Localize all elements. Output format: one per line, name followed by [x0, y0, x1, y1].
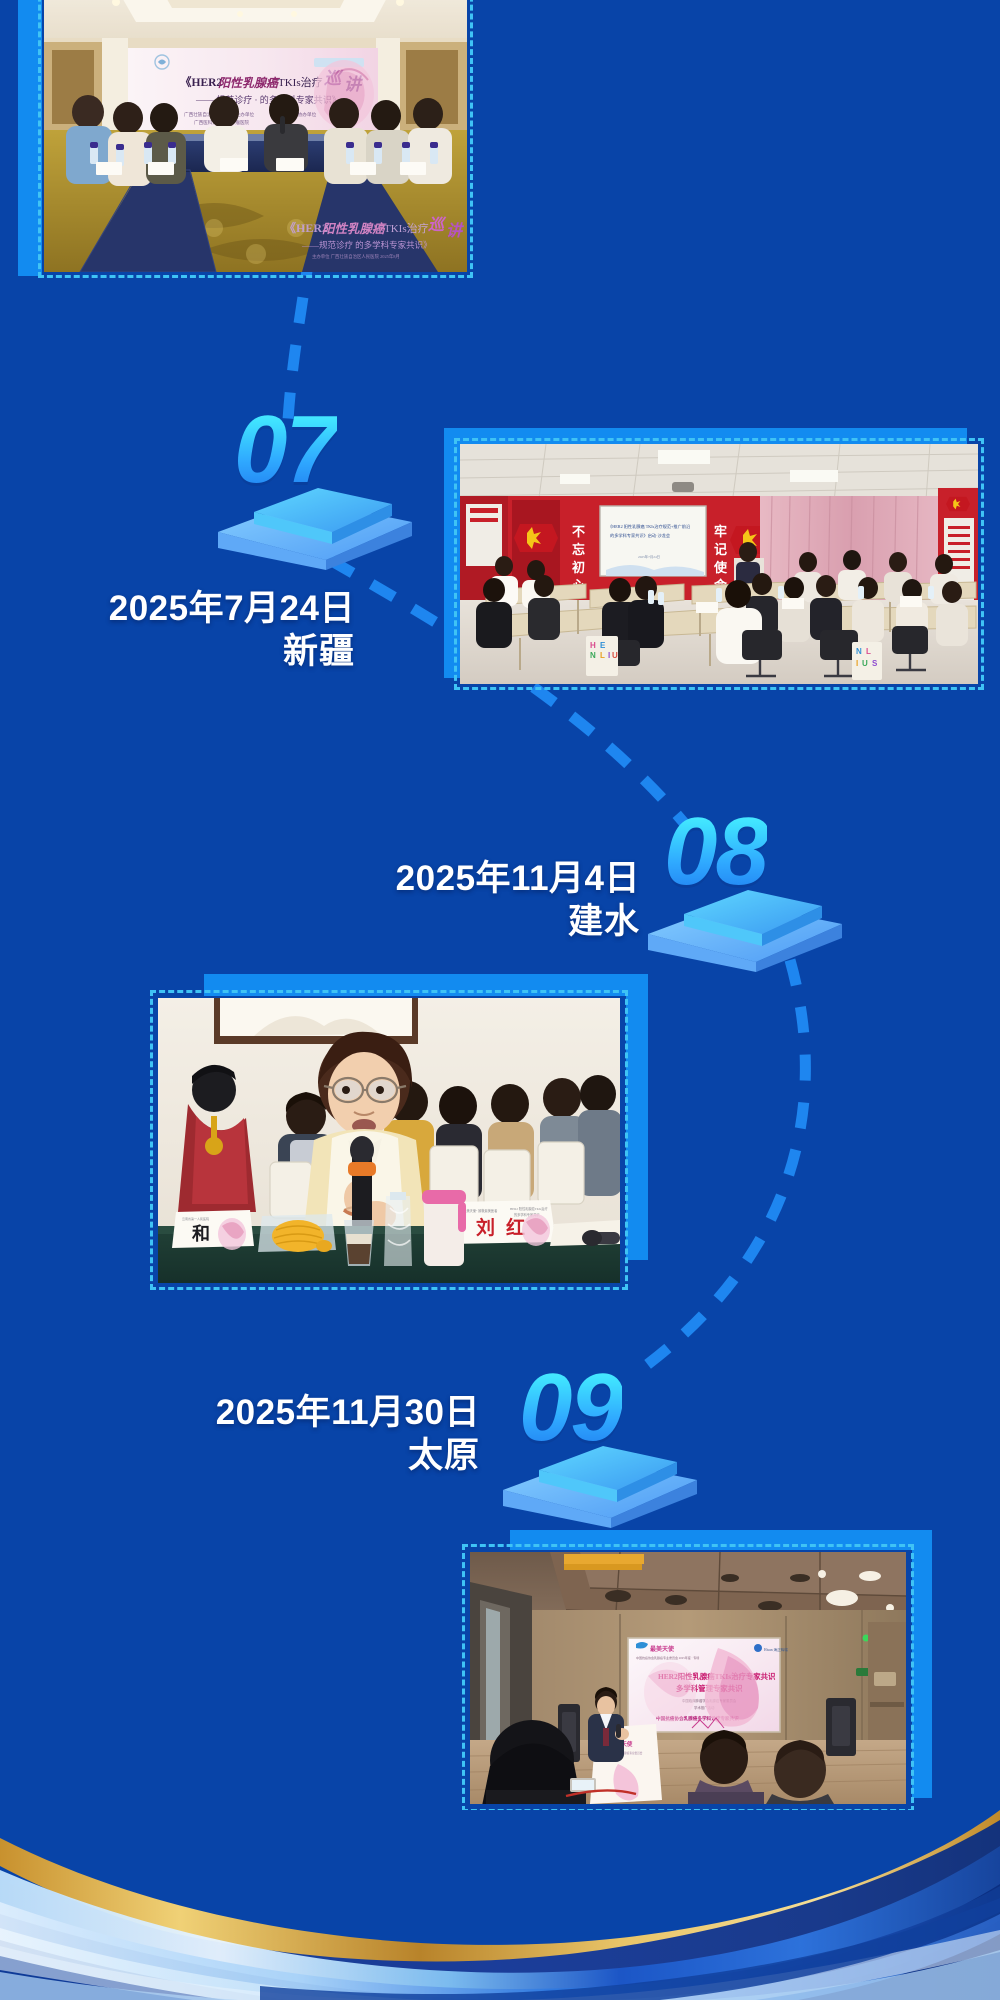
svg-text:H: H	[590, 641, 596, 650]
svg-text:刘: 刘	[476, 1216, 495, 1239]
photo-frame-07: 不忘 初心 《HER2 阳性乳腺癌 TKIs治疗规范+推广前沿 的多学科专家共识…	[444, 420, 984, 692]
jianshui-meeting-photo[interactable]: 和 云南省第一人民医院 刘 红 "最美天使" 致敬最美医者 HER2 阳性乳腺癌…	[158, 998, 620, 1283]
svg-text:阳性乳腺癌: 阳性乳腺癌	[322, 222, 387, 236]
svg-text:记: 记	[714, 542, 727, 557]
svg-text:TKIs治疗: TKIs治疗	[384, 221, 429, 235]
svg-text:N: N	[856, 647, 862, 656]
milestone-label-07: 2025年7月24日 新疆	[0, 588, 355, 673]
svg-text:S: S	[872, 659, 878, 668]
frame-accent-band-right	[912, 1530, 932, 1798]
svg-text:L: L	[866, 647, 871, 656]
bottom-decorative-wave	[0, 1810, 1000, 2000]
svg-text:I: I	[856, 659, 858, 668]
svg-text:2025年7月24日: 2025年7月24日	[638, 554, 660, 559]
top-photo-frame: 《HER2 阳性乳腺癌 TKIs治疗 巡 讲 —— 规范诊疗 · 的多学科专家共…	[18, 0, 473, 300]
xinjiang-meeting-photo[interactable]: 不忘 初心 《HER2 阳性乳腺癌 TKIs治疗规范+推广前沿 的多学科专家共识…	[460, 444, 978, 684]
milestone-marker-08[interactable]: 08	[640, 812, 850, 972]
svg-text:《HER2 阳性乳腺癌 TKIs治疗规范+推广前沿: 《HER2 阳性乳腺癌 TKIs治疗规范+推广前沿	[608, 523, 690, 530]
svg-text:和: 和	[192, 1224, 210, 1244]
poster-canvas: 《HER2 阳性乳腺癌 TKIs治疗 巡 讲 —— 规范诊疗 · 的多学科专家共…	[0, 0, 1000, 2000]
milestone-city-07: 新疆	[0, 631, 355, 674]
milestone-marker-09[interactable]: 09	[495, 1368, 705, 1528]
taiyuan-meeting-photo[interactable]: 最美天使 中国抗癌协会乳腺癌专业委员会 2025年度 · 专场 Hisun 海正…	[470, 1552, 906, 1804]
milestone-date-08: 2025年11月4日	[260, 858, 640, 901]
svg-text:最美天使: 最美天使	[650, 1645, 675, 1653]
svg-text:"最美天使" 致敬最美医者: "最美天使" 致敬最美医者	[462, 1208, 498, 1213]
top-conference-photo[interactable]: 《HER2 阳性乳腺癌 TKIs治疗 巡 讲 —— 规范诊疗 · 的多学科专家共…	[44, 0, 467, 272]
milestone-city-09: 太原	[100, 1435, 480, 1478]
svg-text:初: 初	[572, 560, 585, 575]
photo-frame-09: 最美天使 中国抗癌协会乳腺癌专业委员会 2025年度 · 专场 Hisun 海正…	[462, 1522, 932, 1822]
svg-text:云南省第一人民医院: 云南省第一人民医院	[182, 1216, 209, 1221]
svg-text:I: I	[608, 651, 610, 660]
svg-text:主办单位 广西壮族自治区人民医院 2025年8月: 主办单位 广西壮族自治区人民医院 2025年8月	[312, 253, 400, 260]
milestone-city-08: 建水	[260, 901, 640, 944]
svg-text:阳性乳腺癌: 阳性乳腺癌	[218, 76, 281, 90]
svg-text:不: 不	[572, 524, 585, 539]
milestone-number-07: 07	[234, 402, 337, 498]
milestone-number-09: 09	[519, 1360, 622, 1456]
svg-text:E: E	[600, 641, 606, 650]
svg-text:红: 红	[506, 1216, 525, 1239]
milestone-label-08: 2025年11月4日 建水	[260, 858, 640, 943]
frame-accent-band-right	[626, 974, 648, 1260]
svg-text:L: L	[600, 651, 605, 660]
svg-text:Hisun 海正辉瑞: Hisun 海正辉瑞	[764, 1647, 788, 1652]
svg-text:的多学科专家共识》启动·沙龙会: 的多学科专家共识》启动·沙龙会	[610, 532, 671, 539]
svg-text:《HER2: 《HER2	[180, 75, 222, 89]
svg-text:——规范诊疗 的多学科专家共识》: ——规范诊疗 的多学科专家共识》	[301, 240, 432, 250]
svg-text:忘: 忘	[572, 542, 585, 557]
svg-text:HER2 阳性乳腺癌TKIs治疗: HER2 阳性乳腺癌TKIs治疗	[510, 1206, 548, 1211]
photo-frame-08: 和 云南省第一人民医院 刘 红 "最美天使" 致敬最美医者 HER2 阳性乳腺癌…	[150, 974, 650, 1294]
milestone-marker-07[interactable]: 07	[210, 410, 420, 570]
svg-text:U: U	[612, 651, 618, 660]
milestone-number-08: 08	[664, 804, 767, 900]
milestone-label-09: 2025年11月30日 太原	[100, 1392, 480, 1477]
svg-text:使: 使	[713, 560, 728, 575]
svg-text:牢: 牢	[714, 524, 727, 539]
svg-text:中国抗癌协会乳腺癌专业委员会 2025年度 · 专场: 中国抗癌协会乳腺癌专业委员会 2025年度 · 专场	[636, 1655, 699, 1660]
svg-text:U: U	[862, 659, 868, 668]
svg-text:N: N	[590, 651, 596, 660]
milestone-date-07: 2025年7月24日	[0, 588, 355, 631]
milestone-date-09: 2025年11月30日	[100, 1392, 480, 1435]
